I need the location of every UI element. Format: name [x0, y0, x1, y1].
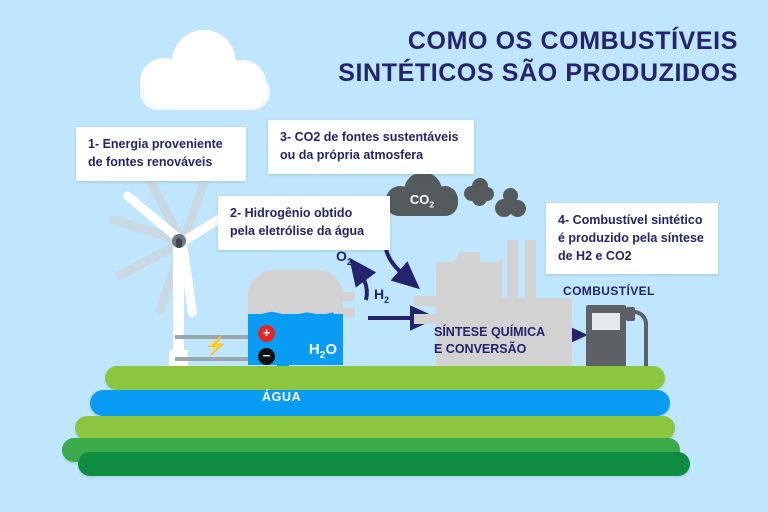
callout-1: 1- Energia proveniente de fontes renováv… — [76, 127, 246, 181]
factory-inlet-pipe-bottom — [414, 314, 438, 324]
bar-light-green-top — [105, 366, 665, 390]
electrode-negative: − — [258, 348, 275, 365]
factory-inlet-pipe-top — [414, 296, 438, 306]
water-formula-label: H2O — [309, 341, 337, 361]
bar-light-green-mid — [75, 416, 675, 440]
bar-water — [90, 390, 670, 416]
page-title: COMO OS COMBUSTÍVEIS SINTÉTICOS SÃO PROD… — [268, 26, 738, 89]
electrode-positive: + — [258, 325, 275, 342]
callout-2: 2- Hidrogênio obtido pela eletrólise da … — [218, 196, 390, 250]
electrolyzer-tank: + − H2O — [248, 270, 343, 365]
chimney-right — [525, 240, 536, 302]
smoke-puff-right — [495, 188, 529, 220]
water-surface-wave — [248, 310, 343, 318]
fuel-pump-display — [592, 313, 620, 330]
title-line-1: COMO OS COMBUSTÍVEIS — [268, 26, 738, 58]
co2-cloud-label: CO2 — [386, 192, 458, 210]
factory-label: SÍNTESE QUÍMICA E CONVERSÃO — [434, 324, 564, 358]
water-bar-label: ÁGUA — [262, 390, 301, 404]
white-cloud-icon — [140, 30, 270, 110]
fuel-label: COMBUSTÍVEL — [563, 284, 655, 298]
co2-cloud-icon: CO2 — [386, 172, 458, 216]
callout-3: 3- CO2 de fontes sustentáveis ou da próp… — [268, 120, 474, 174]
chimney-left — [507, 240, 518, 302]
fuel-nozzle — [626, 307, 635, 321]
sawtooth-roof — [436, 250, 506, 304]
callout-4: 4- Combustível sintético é produzido pel… — [546, 203, 718, 274]
infographic-canvas: COMO OS COMBUSTÍVEIS SINTÉTICOS SÃO PROD… — [0, 0, 768, 512]
lightning-bolt-icon: ⚡ — [204, 336, 222, 358]
title-line-2: SINTÉTICOS SÃO PRODUZIDOS — [268, 58, 738, 90]
bar-dark-green — [78, 452, 690, 476]
fuel-pump-icon — [586, 305, 648, 375]
smoke-puff-left — [464, 178, 498, 208]
